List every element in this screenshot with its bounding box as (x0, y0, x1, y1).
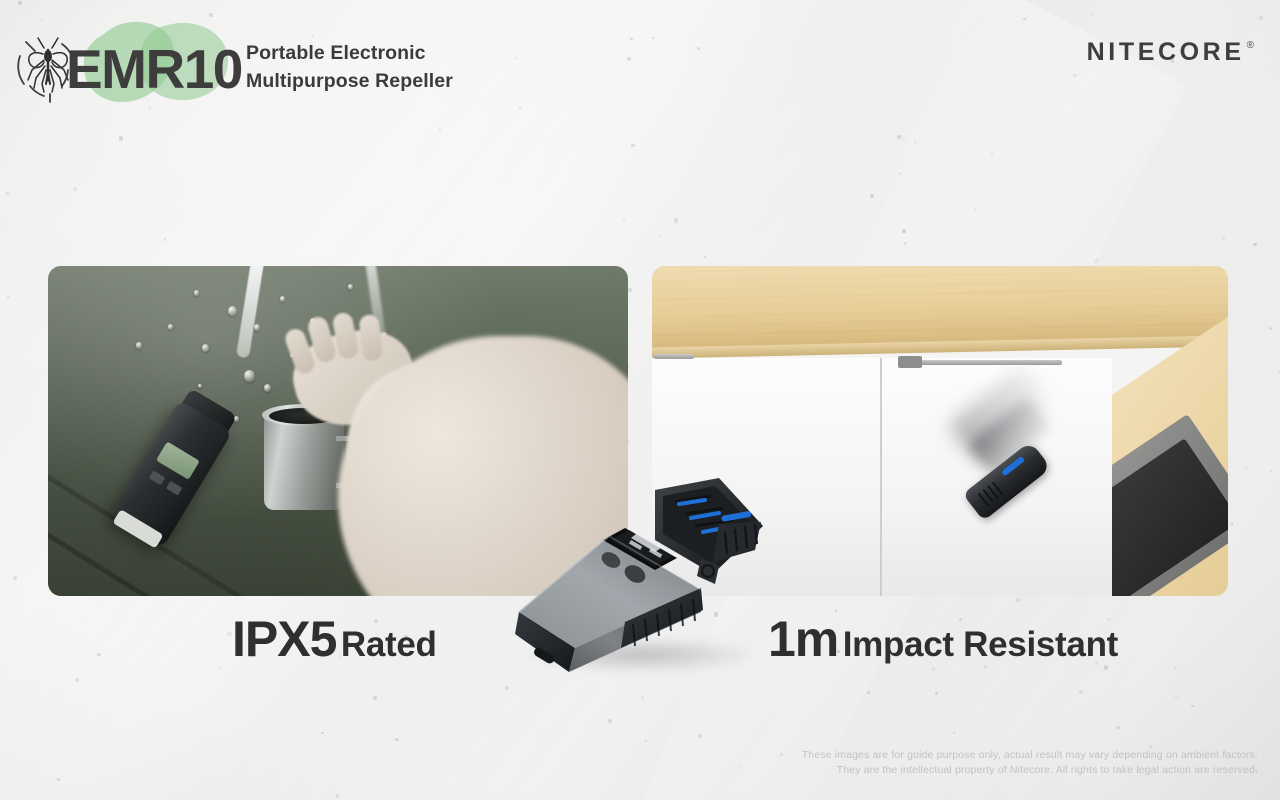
caption-impact-value: 1m (768, 611, 838, 667)
disclaimer-line-2: They are the intellectual property of Ni… (802, 763, 1258, 778)
product-tagline: Portable Electronic Multipurpose Repelle… (246, 40, 453, 95)
caption-impact: 1m Impact Resistant (768, 614, 1118, 664)
disclaimer-line-1: These images are for guide purpose only,… (802, 748, 1258, 763)
caption-impact-label: Impact Resistant (843, 625, 1118, 664)
legal-disclaimer: These images are for guide purpose only,… (802, 748, 1258, 778)
cabinet-handle-left (654, 354, 694, 359)
nitecore-wordmark: NITECORE (1087, 40, 1245, 65)
tagline-line-1: Portable Electronic (246, 40, 453, 68)
product-feature-page: EMR10 Portable Electronic Multipurpose R… (0, 0, 1280, 800)
page-title: EMR10 (66, 42, 242, 97)
hero-product-render: NITECORE (505, 462, 775, 692)
nitecore-brand-logo: NITECORE ® (1087, 40, 1254, 65)
cabinet-seam (880, 358, 882, 596)
hero-product-illustration: NITECORE (505, 462, 775, 692)
cabinet-handle-right (900, 360, 1062, 365)
tagline-line-2: Multipurpose Repeller (246, 68, 453, 96)
registered-trademark-icon: ® (1247, 41, 1254, 51)
caption-ipx5-value: IPX5 (232, 611, 336, 667)
caption-ipx5: IPX5 Rated (232, 614, 437, 664)
page-header: EMR10 Portable Electronic Multipurpose R… (0, 0, 1280, 120)
product-logo-lockup: EMR10 (8, 22, 258, 108)
cabinet-handle-knob (898, 356, 922, 368)
caption-ipx5-label: Rated (341, 625, 437, 664)
